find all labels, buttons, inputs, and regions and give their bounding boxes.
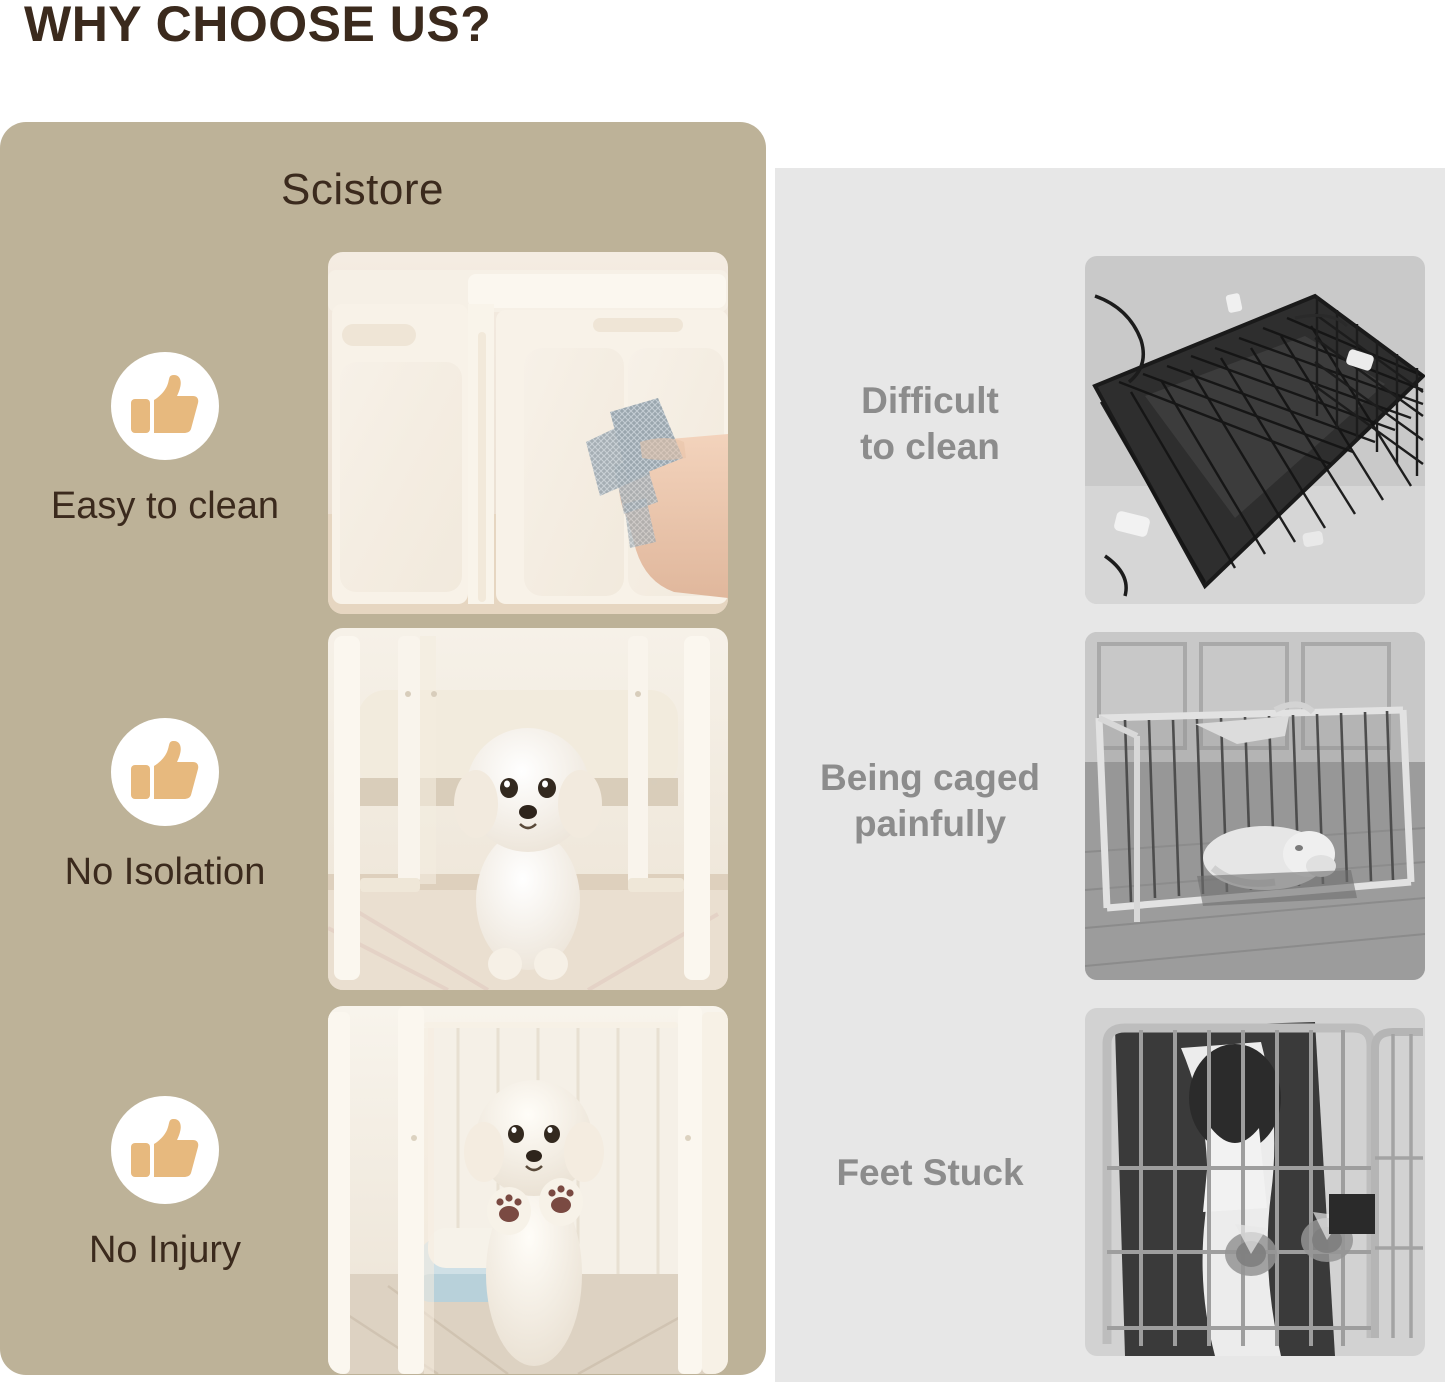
page-title: WHY CHOOSE US?	[24, 0, 491, 54]
brand-name: Scistore	[0, 165, 725, 215]
thumbs-up-icon	[111, 1096, 219, 1204]
competitor-photo-feet-stuck	[1085, 1008, 1425, 1356]
feature-no-isolation: No Isolation	[10, 718, 320, 894]
feature-no-injury: No Injury	[10, 1096, 320, 1272]
thumbs-up-icon	[111, 718, 219, 826]
feature-easy-to-clean: Easy to clean	[10, 352, 320, 528]
competitor-label-being-caged-painfully: Being caged painfully	[790, 755, 1070, 848]
label-line: Being caged	[790, 755, 1070, 801]
feature-label: Easy to clean	[10, 486, 320, 528]
label-line: Feet Stuck	[790, 1150, 1070, 1196]
label-line: Difficult	[790, 378, 1070, 424]
label-line: to clean	[790, 424, 1070, 470]
product-photo-dog-standing	[328, 628, 728, 990]
competitor-photo-wire-crate	[1085, 256, 1425, 604]
competitor-label-difficult-to-clean: Difficult to clean	[790, 378, 1070, 471]
competitor-label-feet-stuck: Feet Stuck	[790, 1150, 1070, 1196]
feature-label: No Isolation	[10, 852, 320, 894]
feature-label: No Injury	[10, 1230, 320, 1272]
competitor-photo-dog-caged	[1085, 632, 1425, 980]
product-photo-dog-paws-up	[328, 1006, 728, 1374]
thumbs-up-icon	[111, 352, 219, 460]
product-photo-cleaning	[328, 252, 728, 614]
label-line: painfully	[790, 801, 1070, 847]
